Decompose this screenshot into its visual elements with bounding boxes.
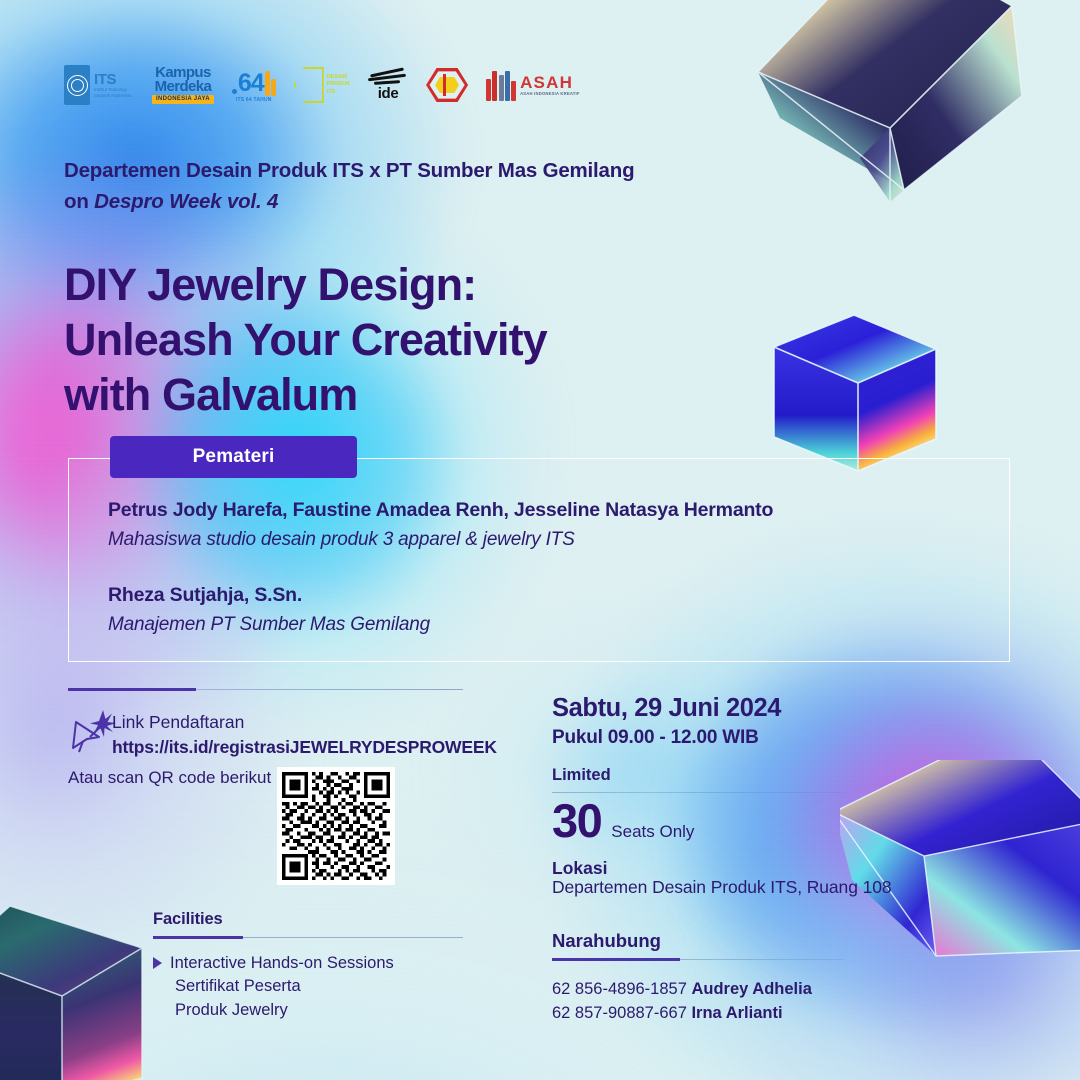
event-kicker: Departemen Desain Produk ITS x PT Sumber… bbox=[64, 156, 824, 218]
its-64-bar-short bbox=[271, 79, 276, 96]
cursor-sparkle-icon bbox=[68, 706, 118, 756]
ide-logo: ide bbox=[368, 63, 408, 107]
kicker-line-2-prefix: on bbox=[64, 190, 94, 213]
location-label: Lokasi bbox=[552, 858, 607, 879]
its-64-number: 64 bbox=[238, 72, 264, 96]
asah-sub: ASAH INDONESIA KREATIF bbox=[520, 92, 580, 96]
qr-code[interactable] bbox=[277, 767, 395, 885]
title-line-2: Unleash Your Creativity bbox=[64, 313, 784, 368]
facility-item-2: Sertifikat Peserta bbox=[175, 977, 301, 995]
speaker-role-1: Mahasiswa studio desain produk 3 apparel… bbox=[108, 525, 1008, 554]
speaker-role-2: Manajemen PT Sumber Mas Gemilang bbox=[108, 610, 1008, 639]
list-item: Interactive Hands-on Sessions bbox=[153, 952, 483, 975]
asah-wordmark: ASAH bbox=[520, 74, 580, 91]
kampus-merdeka-logo: Kampus Merdeka INDONESIA JAYA bbox=[152, 63, 214, 107]
speaker-names-1: Petrus Jody Harefa, Faustine Amadea Renh… bbox=[108, 496, 1008, 525]
kampus-merdeka-line2: Merdeka bbox=[152, 80, 214, 94]
page-title: DIY Jewelry Design: Unleash Your Creativ… bbox=[64, 258, 784, 423]
facilities-divider bbox=[153, 936, 463, 939]
ide-swoosh-icon bbox=[368, 70, 408, 86]
contact-phone-1: 62 856-4896-1857 bbox=[552, 980, 687, 998]
hexagon-mark-icon bbox=[426, 68, 468, 102]
its-wordmark: ITS Institut Teknologi Sepuluh Nopember bbox=[94, 72, 134, 98]
desain-produk-line2: PRODUK bbox=[327, 81, 350, 87]
its-64-anniversary-logo: 64 ITS 64 TAHUN bbox=[232, 63, 276, 107]
facilities-list: Interactive Hands-on Sessions Sertifikat… bbox=[153, 952, 483, 1022]
registration-link-url[interactable]: https://its.id/registrasiJEWELRYDESPROWE… bbox=[112, 735, 532, 760]
desain-produk-line3: ITS bbox=[327, 89, 335, 95]
asah-building-icon bbox=[486, 69, 516, 101]
facility-item-1: Interactive Hands-on Sessions bbox=[170, 952, 394, 975]
kicker-line-2-italic: Despro Week vol. 4 bbox=[94, 190, 278, 213]
contact-row: 62 856-4896-1857 Audrey Adhelia bbox=[552, 978, 952, 1002]
location-value: Departemen Desain Produk ITS, Ruang 108 bbox=[552, 877, 892, 898]
seats-number: 30 bbox=[552, 796, 601, 845]
seats-row: 30 Seats Only bbox=[552, 796, 694, 845]
contact-row: 62 857-90887-667 Irna Arlianti bbox=[552, 1002, 952, 1026]
ide-wordmark: ide bbox=[378, 86, 399, 101]
facilities-heading: Facilities bbox=[153, 910, 223, 929]
facility-item-3: Produk Jewelry bbox=[175, 1001, 288, 1019]
its-seal-badge bbox=[64, 65, 90, 105]
qr-code-image bbox=[282, 772, 390, 880]
desain-produk-line1: DESAIN bbox=[327, 74, 347, 80]
hexagon-partner-logo bbox=[426, 63, 468, 107]
contact-name-2: Irna Arlianti bbox=[691, 1004, 782, 1022]
list-item: Produk Jewelry bbox=[153, 999, 483, 1022]
asah-logo: ASAH ASAH INDONESIA KREATIF bbox=[486, 63, 580, 107]
its-64-caption: ITS 64 TAHUN bbox=[236, 98, 272, 103]
gradient-blob-bottom-right-violet bbox=[700, 780, 1080, 1080]
its-64-dot-icon bbox=[232, 89, 237, 94]
limited-label: Limited bbox=[552, 766, 611, 785]
its-logo: ITS Institut Teknologi Sepuluh Nopember bbox=[64, 63, 134, 107]
kicker-line-2: on Despro Week vol. 4 bbox=[64, 187, 824, 218]
kampus-merdeka-tagline: INDONESIA JAYA bbox=[152, 95, 214, 104]
contact-name-1: Audrey Adhelia bbox=[691, 980, 811, 998]
title-line-1: DIY Jewelry Design: bbox=[64, 258, 784, 313]
speaker-names-2: Rheza Sutjahja, S.Sn. bbox=[108, 581, 1008, 610]
triangle-bullet-icon bbox=[153, 957, 162, 969]
its-64-bar-tall bbox=[265, 71, 270, 96]
registration-link-block[interactable]: Link Pendaftaran https://its.id/registra… bbox=[112, 710, 532, 761]
desain-produk-text: DESAIN PRODUK ITS bbox=[327, 74, 350, 96]
glass-cube-bottom-left-shape bbox=[0, 900, 162, 1080]
seats-suffix: Seats Only bbox=[611, 822, 694, 842]
event-date: Sabtu, 29 Juni 2024 bbox=[552, 694, 781, 723]
contacts-divider bbox=[552, 958, 844, 961]
qr-code-label: Atau scan QR code berikut : bbox=[68, 768, 288, 788]
desain-produk-mark-icon bbox=[294, 67, 324, 103]
desain-produk-its-logo: DESAIN PRODUK ITS bbox=[294, 63, 350, 107]
poster-canvas: ITS Institut Teknologi Sepuluh Nopember … bbox=[0, 0, 1080, 1080]
its-seal-icon bbox=[67, 75, 88, 96]
event-time: Pukul 09.00 - 12.00 WIB bbox=[552, 727, 759, 749]
contacts-list: 62 856-4896-1857 Audrey Adhelia 62 857-9… bbox=[552, 978, 952, 1026]
kicker-line-1: Departemen Desain Produk ITS x PT Sumber… bbox=[64, 156, 824, 187]
partner-logo-strip: ITS Institut Teknologi Sepuluh Nopember … bbox=[64, 60, 580, 110]
title-line-3: with Galvalum bbox=[64, 368, 784, 423]
gradient-blob-bottom-wash bbox=[0, 800, 1080, 1080]
its-logo-sub: Institut Teknologi Sepuluh Nopember bbox=[94, 87, 134, 98]
its-64-mark: 64 bbox=[232, 68, 276, 96]
contact-phone-2: 62 857-90887-667 bbox=[552, 1004, 687, 1022]
list-item: Sertifikat Peserta bbox=[153, 975, 483, 998]
contacts-heading: Narahubung bbox=[552, 930, 661, 952]
its-logo-word: ITS bbox=[94, 72, 134, 87]
speakers-list: Petrus Jody Harefa, Faustine Amadea Renh… bbox=[108, 496, 1008, 639]
registration-divider bbox=[68, 688, 463, 691]
speakers-badge: Pemateri bbox=[110, 436, 357, 478]
registration-link-label: Link Pendaftaran bbox=[112, 710, 532, 735]
